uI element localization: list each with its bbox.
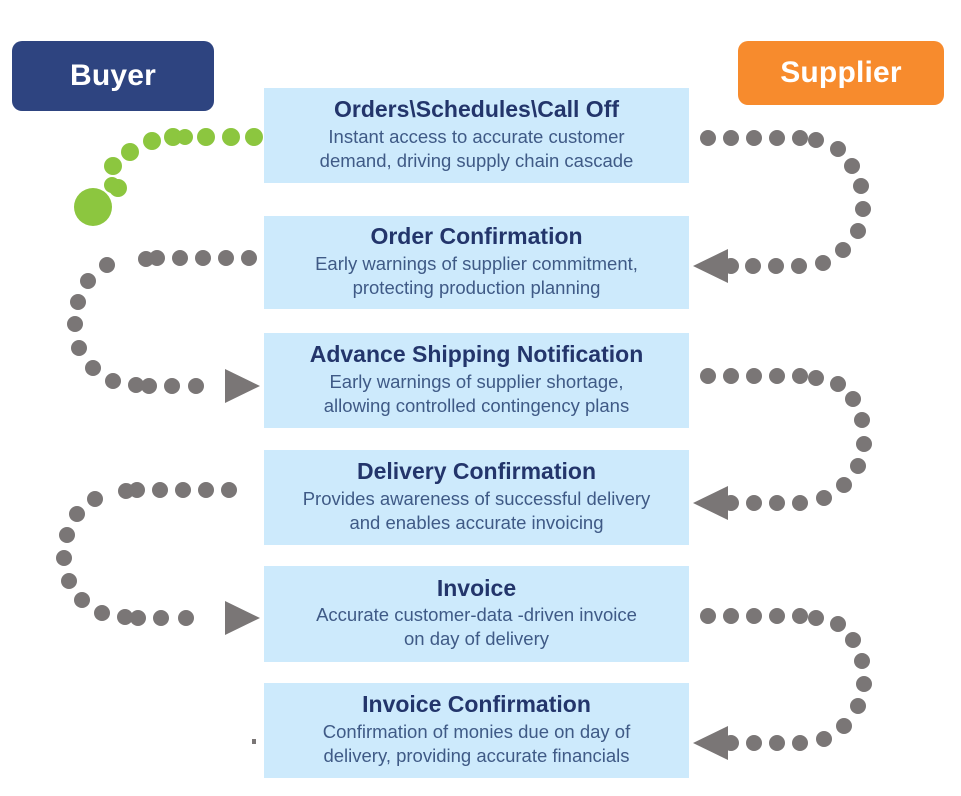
card-subtitle-line-2: and enables accurate invoicing [274,511,679,535]
flow-dot [121,143,139,161]
flow-dot [129,482,145,498]
flow-dot [218,250,234,266]
card-title: Invoice Confirmation [274,691,679,717]
card-subtitle-line-2: delivery, providing accurate financials [274,744,679,768]
flow-dot [816,490,832,506]
flow-dot [71,340,87,356]
flow-dot [164,128,182,146]
flow-dot [769,130,785,146]
card-title: Orders\Schedules\Call Off [274,96,679,122]
card-title: Order Confirmation [274,223,679,249]
flow-dot [221,482,237,498]
flow-dot [109,179,127,197]
flow-dot [195,250,211,266]
card-title: Delivery Confirmation [274,458,679,484]
flow-dot [67,316,83,332]
flow-asn-to-delivery-confirmation [693,368,872,520]
flow-dot [700,608,716,624]
flow-dot [769,735,785,751]
flow-dot [745,258,761,274]
flow-dot [723,608,739,624]
card-subtitle-line-2: allowing controlled contingency plans [274,394,679,418]
flow-dot [241,250,257,266]
flow-dot [188,378,204,394]
flow-dot [177,129,193,145]
flow-dot [197,128,215,146]
flow-diagram-canvas: Buyer Supplier Orders\Schedules\Call Off… [0,0,961,796]
supplier-role-text: Supplier [780,56,902,90]
card-subtitle-line-1: Accurate customer-data -driven invoice [274,603,679,627]
flow-dot [791,258,807,274]
flow-dot [856,676,872,692]
supplier-role-label: Supplier [738,41,944,105]
flow-dot [845,632,861,648]
card-subtitle-line-1: Provides awareness of successful deliver… [274,487,679,511]
flow-dot [700,130,716,146]
flow-dot [723,495,739,511]
message-card-orders-schedules-call-off: Orders\Schedules\Call Off Instant access… [264,88,689,183]
flow-dot [74,592,90,608]
flow-dot [94,605,110,621]
message-card-order-confirmation: Order Confirmation Early warnings of sup… [264,216,689,309]
flow-dot [70,294,86,310]
flow-dot [61,573,77,589]
flow-dot [175,482,191,498]
flow-dot [769,495,785,511]
flow-dot [845,391,861,407]
flow-dot [830,141,846,157]
message-card-advance-shipping-notification: Advance Shipping Notification Early warn… [264,333,689,428]
flow-dot [835,242,851,258]
flow-dot [830,376,846,392]
flow-dot [143,132,161,150]
flow-dot [222,128,240,146]
flow-dot [198,482,214,498]
flow-dot [856,436,872,452]
flow-dot [808,370,824,386]
card-subtitle-line-1: Instant access to accurate customer [274,125,679,149]
flow-dot [723,258,739,274]
flow-dot [830,616,846,632]
card-subtitle-line-1: Early warnings of supplier commitment, [274,252,679,276]
flow-dot [87,491,103,507]
flow-dot [769,368,785,384]
flow-dot [836,477,852,493]
flow-dot [149,250,165,266]
card-title: Advance Shipping Notification [274,341,679,367]
flow-dot [850,698,866,714]
flow-dot [792,368,808,384]
flow-dot [85,360,101,376]
flow-dot [792,608,808,624]
flow-buyer-origin-to-orders [74,128,263,226]
flow-dot [138,251,154,267]
flow-dot [152,482,168,498]
flow-dot [153,610,169,626]
flow-dot [792,130,808,146]
flow-dot [746,495,762,511]
card-subtitle-line-1: Confirmation of monies due on day of [274,720,679,744]
card-title: Invoice [274,575,679,601]
flow-dot [808,610,824,626]
flow-dot [69,506,85,522]
stray-speck [252,739,256,744]
card-subtitle-line-2: on day of delivery [274,627,679,651]
flow-dot [128,377,144,393]
flow-dot [746,130,762,146]
message-card-invoice: Invoice Accurate customer-data -driven i… [264,566,689,662]
flow-dot [723,130,739,146]
flow-arrowhead-left-icon [693,486,728,520]
flow-order-confirmation-to-asn [67,250,260,403]
flow-delivery-confirmation-to-invoice [56,482,260,635]
flow-arrowhead-right-icon [225,369,260,403]
flow-dot [105,373,121,389]
flow-dot [769,608,785,624]
card-subtitle-line-2: demand, driving supply chain cascade [274,149,679,173]
flow-dot [792,495,808,511]
flow-dot [816,731,832,747]
message-card-delivery-confirmation: Delivery Confirmation Provides awareness… [264,450,689,545]
flow-dot [746,735,762,751]
flow-dot [104,157,122,175]
flow-dot [141,378,157,394]
card-subtitle-line-2: protecting production planning [274,276,679,300]
flow-dot [164,378,180,394]
flow-dot [746,368,762,384]
flow-dot [792,735,808,751]
flow-dot [104,177,120,193]
message-card-invoice-confirmation: Invoice Confirmation Confirmation of mon… [264,683,689,778]
flow-dot [854,412,870,428]
flow-dot [853,178,869,194]
card-subtitle-line-1: Early warnings of supplier shortage, [274,370,679,394]
flow-dot [854,653,870,669]
flow-dot [768,258,784,274]
flow-dot [746,608,762,624]
flow-dot [855,201,871,217]
flow-dot [59,527,75,543]
flow-dot [815,255,831,271]
flow-dot [178,610,194,626]
flow-dot [723,368,739,384]
flow-dot [850,223,866,239]
flow-dot [117,609,133,625]
flow-dot [844,158,860,174]
flow-origin-marker [74,188,112,226]
flow-arrowhead-left-icon [693,726,728,760]
flow-arrowhead-left-icon [693,249,728,283]
flow-dot [56,550,72,566]
flow-dot [808,132,824,148]
flow-dot [99,257,115,273]
buyer-role-label: Buyer [12,41,214,111]
flow-dot [80,273,96,289]
flow-arrowhead-right-icon [225,601,260,635]
flow-dot [850,458,866,474]
flow-dot [245,128,263,146]
flow-dot [118,483,134,499]
flow-dot [172,250,188,266]
flow-dot [700,368,716,384]
flow-dot [130,610,146,626]
buyer-role-text: Buyer [70,59,156,93]
flow-dot [836,718,852,734]
flow-orders-to-order-confirmation [693,130,871,283]
flow-invoice-to-invoice-confirmation [693,608,872,760]
flow-dot [723,735,739,751]
